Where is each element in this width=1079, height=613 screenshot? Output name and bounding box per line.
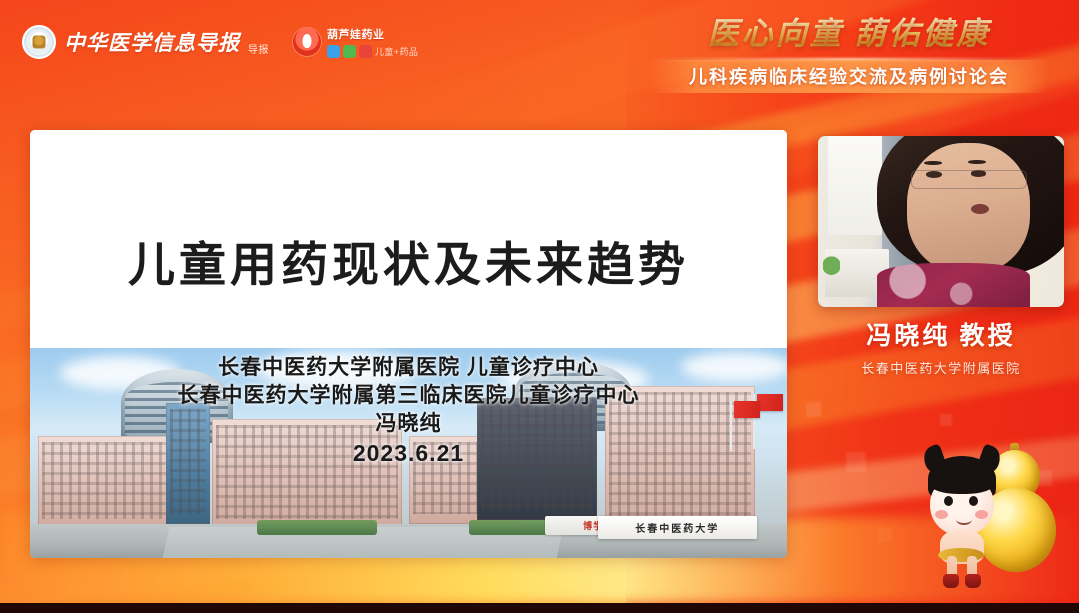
video-person-face bbox=[907, 143, 1030, 273]
organizer-logo-name: 中华医学信息导报 bbox=[64, 27, 240, 57]
partner-logo-name: 葫芦娃药业 bbox=[327, 26, 418, 42]
partner-logo: 葫芦娃药业 儿童+药品 bbox=[293, 26, 418, 58]
speaker-info: 冯晓纯 教授 长春中医药大学附属医院 bbox=[818, 316, 1064, 377]
presentation-slide[interactable]: 儿童用药现状及未来趋势 bbox=[30, 130, 787, 558]
bottom-black-bar bbox=[0, 603, 1079, 613]
calabash-boy-mascot-icon bbox=[916, 442, 1064, 582]
credit-line: 长春中医药大学附属医院 儿童诊疗中心 bbox=[30, 354, 787, 382]
video-window bbox=[828, 136, 882, 235]
video-person-mouth bbox=[971, 204, 989, 214]
event-subtitle: 儿科疾病临床经验交流及病例讨论会 bbox=[649, 63, 1049, 89]
mascot-child bbox=[916, 456, 1012, 582]
video-person-brow bbox=[924, 161, 942, 165]
speaker-affiliation: 长春中医药大学附属医院 bbox=[818, 358, 1064, 377]
video-person-brow bbox=[968, 160, 986, 164]
credit-line: 冯晓纯 bbox=[30, 410, 787, 438]
mascot-leaf-skirt bbox=[938, 548, 984, 562]
chip-red-icon bbox=[359, 45, 372, 58]
campus-gate-sign: 长春中医药大学 bbox=[598, 516, 757, 539]
partner-logo-text: 葫芦娃药业 儿童+药品 bbox=[327, 26, 418, 58]
partner-logo-tagline-row: 儿童+药品 bbox=[327, 45, 418, 58]
campus-gate-sign-text: 长春中医药大学 bbox=[635, 520, 719, 535]
mascot-boot bbox=[943, 574, 959, 588]
credit-line: 长春中医药大学附属第三临床医院儿童诊疗中心 bbox=[30, 382, 787, 410]
event-subtitle-band: 儿科疾病临床经验交流及病例讨论会 bbox=[649, 60, 1049, 93]
bokeh-square bbox=[846, 452, 866, 472]
video-plant bbox=[823, 256, 840, 280]
mascot-eye bbox=[944, 496, 953, 506]
mascot-cheek bbox=[935, 510, 948, 519]
chip-blue-icon bbox=[327, 45, 340, 58]
video-person-glasses bbox=[911, 170, 1026, 189]
speaker-video-tile[interactable] bbox=[818, 136, 1064, 307]
mascot-boot bbox=[965, 574, 981, 588]
header-logo-group: 中华医学信息导报 导报 葫芦娃药业 儿童+药品 bbox=[22, 25, 418, 59]
partner-logo-tagline: 儿童+药品 bbox=[375, 45, 418, 58]
speaker-name: 冯晓纯 教授 bbox=[818, 316, 1064, 352]
mascot-cheek bbox=[975, 510, 988, 519]
video-person-shirt bbox=[877, 263, 1030, 307]
bokeh-square bbox=[806, 402, 821, 417]
event-title: 医心向童 葫佑健康 bbox=[649, 16, 1049, 52]
cma-seal-icon bbox=[22, 25, 56, 59]
mascot-eye bbox=[969, 496, 978, 506]
mascot-mouth bbox=[956, 514, 972, 525]
bokeh-square bbox=[940, 414, 952, 426]
mascot-bangs bbox=[930, 472, 994, 494]
chip-green-icon bbox=[343, 45, 356, 58]
gourd-mark-icon bbox=[293, 28, 321, 56]
event-title-block: 医心向童 葫佑健康 儿科疾病临床经验交流及病例讨论会 bbox=[649, 16, 1049, 93]
organizer-logo: 中华医学信息导报 导报 bbox=[22, 25, 269, 59]
slide-credits: 长春中医药大学附属医院 儿童诊疗中心 长春中医药大学附属第三临床医院儿童诊疗中心… bbox=[30, 354, 787, 467]
campus-hedge bbox=[257, 520, 377, 535]
slide-date: 2023.6.21 bbox=[30, 440, 787, 467]
broadcast-stage: 中华医学信息导报 导报 葫芦娃药业 儿童+药品 医心向童 葫佑健康 儿科疾病临床… bbox=[0, 0, 1079, 613]
organizer-logo-suffix: 导报 bbox=[248, 41, 269, 59]
slide-title: 儿童用药现状及未来趋势 bbox=[30, 226, 787, 295]
